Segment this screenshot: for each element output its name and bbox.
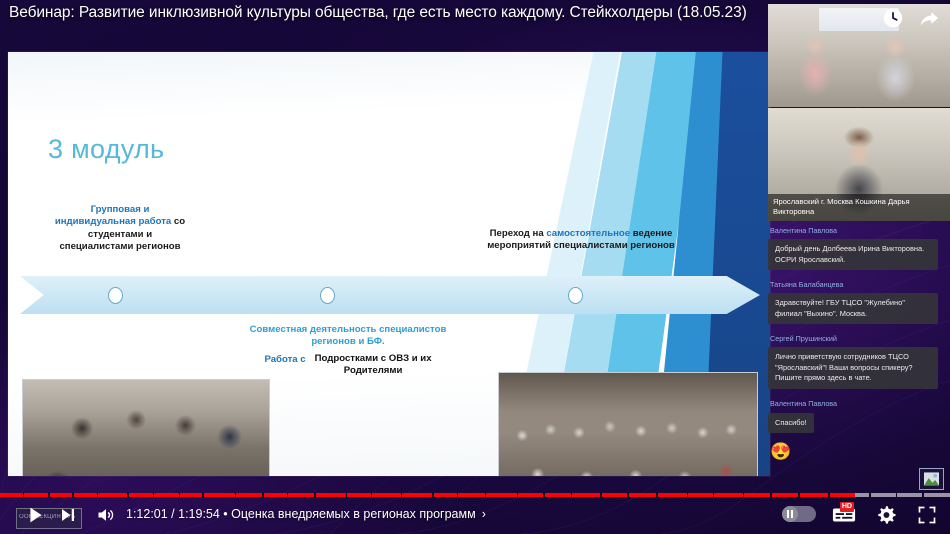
chat-message-text: Спасибо! — [768, 413, 814, 434]
slide-text-left: Групповая и индивидуальная работа со сту… — [30, 204, 210, 253]
slide-text-right-suffix: ведение — [630, 228, 672, 239]
chat-message-text: Здравствуйте! ГБУ ТЦСО "Жулебино" филиал… — [768, 293, 938, 324]
slide-timeline-arrow-body — [20, 276, 760, 314]
chat-message-text: Лично приветствую сотрудников ТЦСО "Ярос… — [768, 347, 938, 389]
chat-reaction-emoji: 😍 — [770, 443, 950, 460]
chat-message: Валентина Павлова Добрый день Долбеева И… — [768, 226, 950, 280]
slide-timeline-marker-2 — [320, 287, 335, 304]
webcam-participant-name: Ярославский г. Москва Кошкина Дарья Викт… — [768, 194, 950, 221]
slide-text-mid-blue2: регионов и БФ. — [311, 336, 384, 347]
progress-bar[interactable] — [0, 493, 950, 497]
chat-author: Сергей Прушинский — [770, 334, 950, 343]
chapter-chevron-icon[interactable]: › — [482, 507, 486, 521]
slide-text-mid-value-line2: Родителями — [344, 365, 403, 376]
fullscreen-button[interactable] — [914, 502, 940, 528]
chat-author: Татьяна Балабанцева — [770, 280, 950, 289]
slide-timeline-arrow — [20, 276, 760, 314]
slide-text-mid-label: Работа с — [264, 353, 305, 378]
slide-photo-workshop — [22, 379, 270, 476]
slide-text-left-blue2: индивидуальная работа — [55, 216, 171, 227]
chat-author: Валентина Павлова — [770, 226, 950, 235]
autoplay-toggle[interactable] — [782, 506, 816, 522]
slide-text-mid-value: Подростками с ОВЗ и их Родителями — [315, 353, 432, 378]
slide-timeline-marker-3 — [568, 287, 583, 304]
play-pause-button[interactable] — [22, 502, 48, 528]
player-controls-row: ООН ЛЕКЦИЯ ПУБ — [0, 500, 950, 534]
quality-hd-badge: HD — [840, 502, 854, 512]
slide-text-right-prefix: Переход на — [490, 228, 547, 239]
chat-panel[interactable]: Валентина Павлова Добрый день Долбеева И… — [768, 226, 950, 492]
autoplay-toggle-knob — [782, 506, 798, 522]
video-title-bar: Вебинар: Развитие инклюзивной культуры о… — [0, 0, 950, 30]
slide-text-mid-value-line1: Подростками с ОВЗ и их — [315, 353, 432, 364]
presentation-slide: 3 модуль Групповая и индивидуальная рабо… — [8, 52, 770, 476]
slide-text-mid-row: Работа с Подростками с ОВЗ и их Родителя… — [198, 353, 498, 378]
slide-text-right-blue: самостоятельное — [546, 228, 630, 239]
video-player-controls: ООН ЛЕКЦИЯ ПУБ — [0, 492, 950, 534]
chat-message: Татьяна Балабанцева Здравствуйте! ГБУ ТЦ… — [768, 280, 950, 334]
slide-photo-workshop-image — [23, 380, 269, 476]
chat-message-text: Добрый день Долбеева Ирина Викторовна. О… — [768, 239, 938, 270]
volume-button[interactable] — [93, 502, 119, 528]
slide-text-left-line3: специалистами регионов — [59, 241, 180, 252]
slide-text-left-line2: студентами и — [88, 229, 152, 240]
broken-image-placeholder — [919, 468, 944, 490]
youtube-video-player-page: Вебинар: Развитие инклюзивной культуры о… — [0, 0, 950, 534]
slide-timeline-marker-1 — [108, 287, 123, 304]
slide-photo-group: 51 — [498, 372, 758, 476]
slide-text-right-line2: мероприятий специалистами регионов — [487, 240, 675, 251]
webinar-sidebar: Ярославский г. Москва Кошкина Дарья Викт… — [760, 0, 950, 492]
slide-text-middle: Совместная деятельность специалистов рег… — [198, 324, 498, 377]
slide-text-left-tail: со — [171, 216, 185, 227]
slide-text-right: Переход на самостоятельное ведение мероп… — [456, 228, 706, 253]
slide-text-left-blue1: Групповая и — [91, 204, 150, 215]
watch-later-icon[interactable] — [882, 7, 904, 29]
time-text: 1:12:01 / 1:19:54 • Оценка внедряемых в … — [126, 507, 476, 521]
slide-text-mid-blue1: Совместная деятельность специалистов — [250, 324, 447, 335]
chat-message: Сергей Прушинский Лично приветствую сотр… — [768, 334, 950, 399]
slide-heading: 3 модуль — [48, 134, 164, 165]
chat-author: Валентина Павлова — [770, 399, 950, 408]
chat-message: Валентина Павлова Спасибо! — [768, 399, 950, 444]
page-title: Вебинар: Развитие инклюзивной культуры о… — [9, 4, 747, 22]
next-video-button[interactable] — [55, 502, 81, 528]
time-and-chapter-display: 1:12:01 / 1:19:54 • Оценка внедряемых в … — [126, 507, 486, 521]
share-icon[interactable] — [918, 8, 940, 30]
webcam-tile-speaker: Ярославский г. Москва Кошкина Дарья Викт… — [768, 108, 950, 221]
settings-gear-icon[interactable]: HD — [872, 502, 900, 528]
slide-photo-group-image — [499, 373, 757, 476]
